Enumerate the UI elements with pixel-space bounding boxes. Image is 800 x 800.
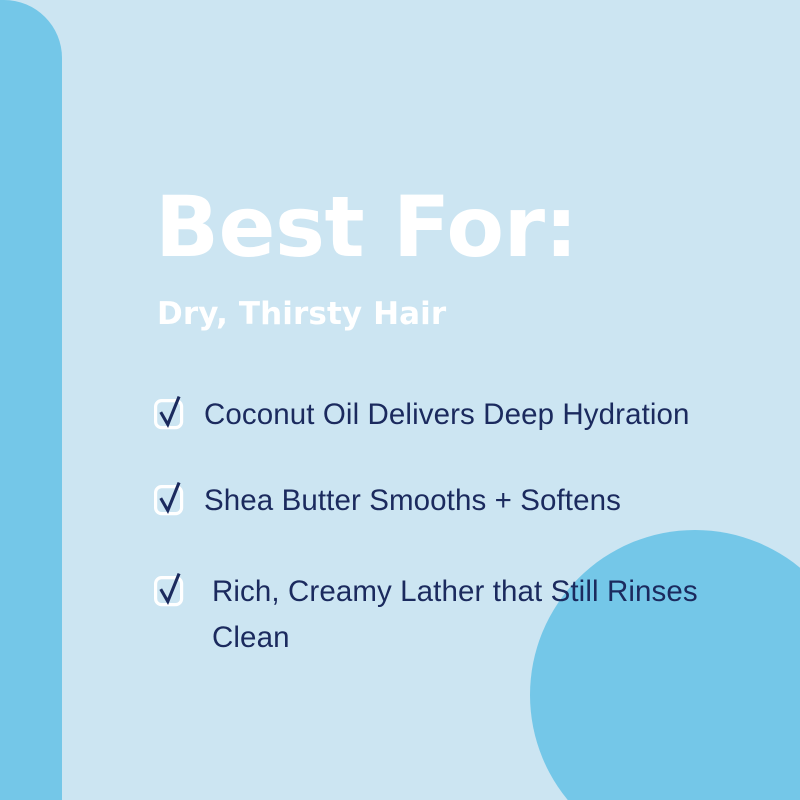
checkmark-icon — [155, 576, 183, 606]
list-item: Rich, Creamy Lather that Still Rinses Cl… — [155, 569, 755, 661]
list-item-label: Coconut Oil Delivers Deep Hydration — [204, 392, 690, 438]
checkmark-icon — [155, 485, 183, 515]
list-item: Shea Butter Smooths + Softens — [155, 478, 755, 524]
card-content: Best For: Dry, Thirsty Hair Coconut Oil … — [155, 0, 755, 800]
list-item: Coconut Oil Delivers Deep Hydration — [155, 392, 755, 438]
left-accent-band — [0, 0, 62, 800]
list-item-label: Shea Butter Smooths + Softens — [204, 478, 621, 524]
best-for-card: Best For: Dry, Thirsty Hair Coconut Oil … — [0, 0, 800, 800]
checkmark-icon — [155, 399, 183, 429]
list-item-label: Rich, Creamy Lather that Still Rinses Cl… — [212, 569, 755, 661]
page-subtitle: Dry, Thirsty Hair — [157, 299, 446, 330]
benefit-list: Coconut Oil Delivers Deep Hydration Shea… — [155, 392, 755, 661]
page-title: Best For: — [155, 185, 578, 269]
